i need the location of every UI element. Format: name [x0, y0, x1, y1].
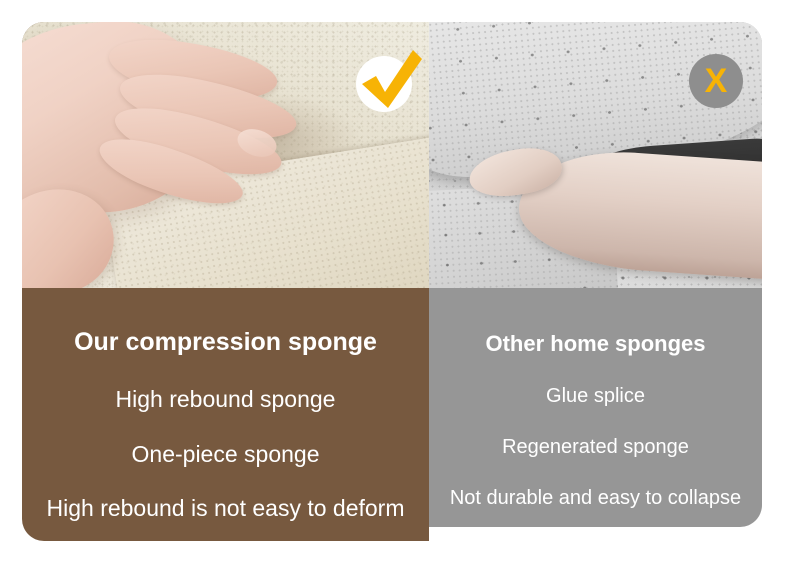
good-feature-2: One-piece sponge [22, 441, 429, 468]
other-headline: Other home sponges [429, 331, 762, 357]
other-product-text: Other home sponges Glue splice Regenerat… [429, 288, 762, 527]
good-feature-3: High rebound is not easy to deform [22, 495, 429, 522]
good-product-text: Our compression sponge High rebound spon… [22, 288, 429, 541]
other-feature-2: Regenerated sponge [429, 436, 762, 459]
good-product-panel: Our compression sponge High rebound spon… [22, 22, 429, 541]
other-product-photo: X [429, 22, 762, 288]
x-badge-icon: X [689, 54, 743, 108]
good-feature-1: High rebound sponge [22, 386, 429, 413]
sponge-comparison-graphic: Our compression sponge High rebound spon… [0, 0, 790, 586]
x-badge-glyph: X [705, 64, 728, 98]
check-badge-icon [356, 56, 412, 112]
other-feature-3: Not durable and easy to collapse [429, 487, 762, 510]
other-product-panel: X Other home sponges Glue splice Regener… [429, 22, 762, 527]
good-product-photo [22, 22, 429, 288]
other-feature-1: Glue splice [429, 385, 762, 408]
good-headline: Our compression sponge [22, 328, 429, 357]
